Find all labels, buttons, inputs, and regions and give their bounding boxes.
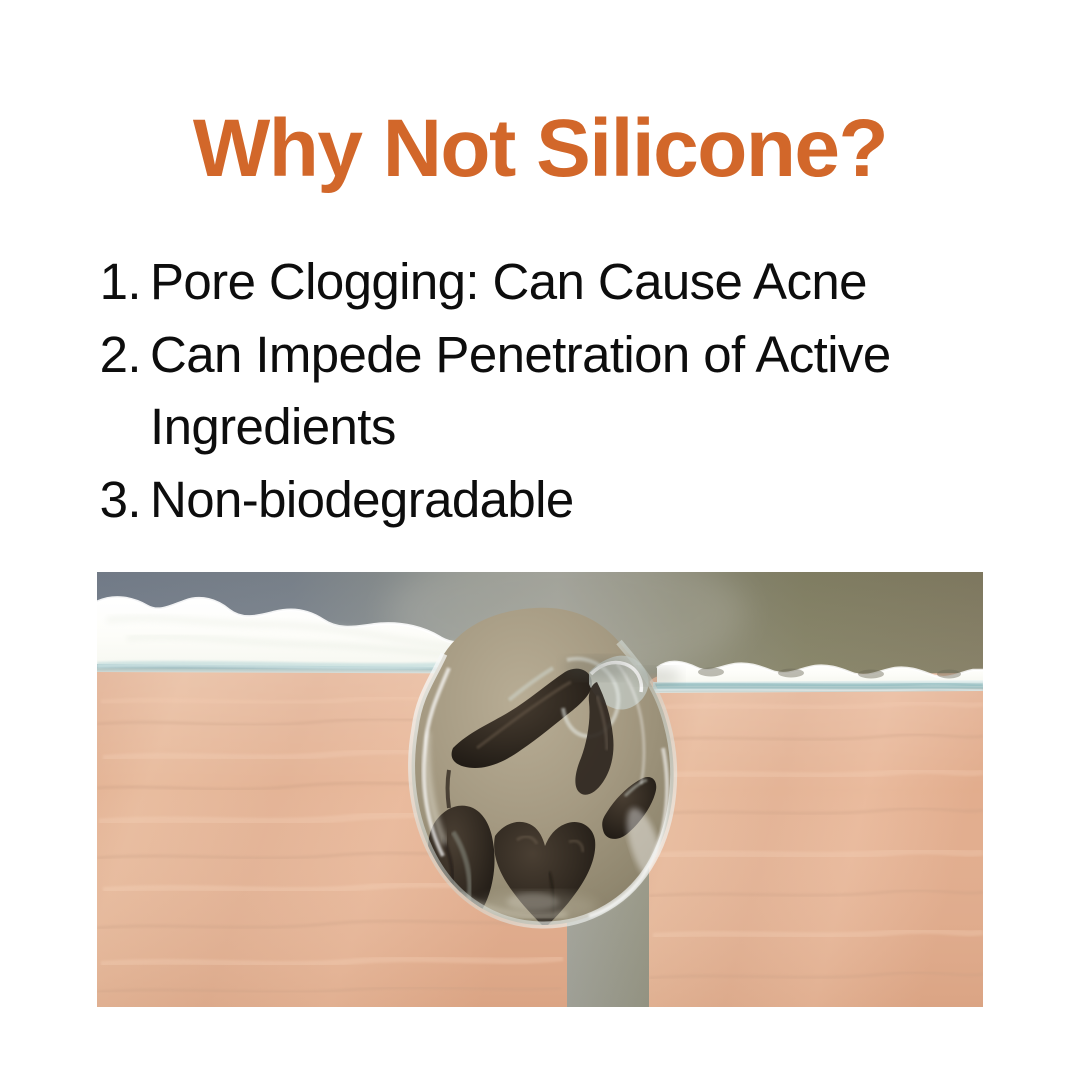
clogged-pore-illustration	[97, 572, 983, 1007]
list-item: 1. Pore Clogging: Can Cause Acne	[98, 246, 1018, 318]
reasons-list: 1. Pore Clogging: Can Cause Acne 2. Can …	[98, 246, 1018, 537]
clogged-pore-svg	[97, 572, 983, 1007]
list-item-label: Pore Clogging: Can Cause Acne	[150, 246, 995, 318]
list-item-label: Non-biodegradable	[150, 464, 995, 536]
list-item-label: Can Impede Penetration of Active Ingredi…	[150, 319, 995, 463]
list-item-number: 3.	[98, 464, 150, 536]
list-item: 2. Can Impede Penetration of Active Ingr…	[98, 319, 1018, 463]
page-title: Why Not Silicone?	[0, 106, 1080, 192]
list-item-number: 2.	[98, 319, 150, 391]
list-item: 3. Non-biodegradable	[98, 464, 1018, 536]
infographic-page: Why Not Silicone? 1. Pore Clogging: Can …	[0, 0, 1080, 1080]
list-item-number: 1.	[98, 246, 150, 318]
